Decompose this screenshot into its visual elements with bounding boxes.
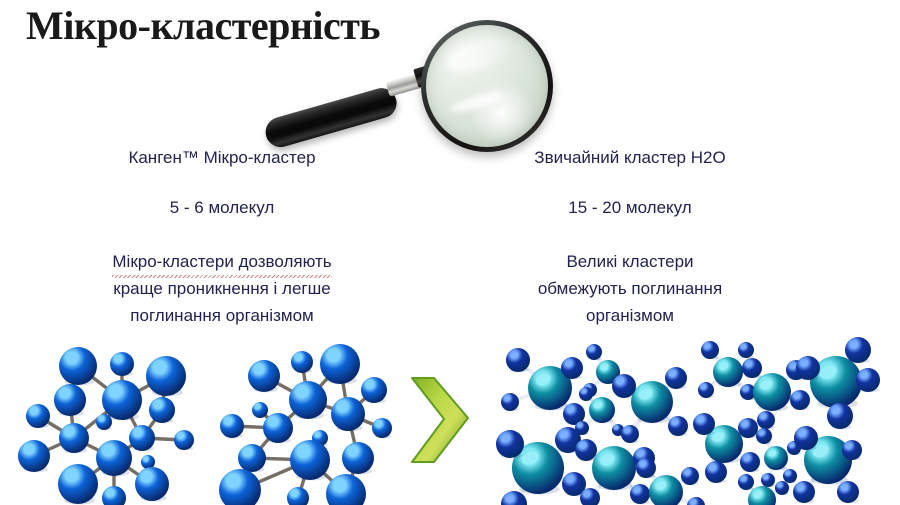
regular-cluster-diagram-2 [690, 336, 890, 505]
right-column-molecule-count: 15 - 20 молекул [480, 198, 780, 218]
infographic-root: Мікро-кластерність Канген™ Мікро-кластер… [0, 0, 900, 505]
left-column-heading: Канген™ Мікро-кластер [72, 148, 372, 168]
right-description-line-1: Великі кластери [470, 248, 790, 275]
right-description-line-3: організмом [470, 302, 790, 329]
chevron-right-icon [404, 372, 476, 468]
right-column-heading: Звичайний кластер H2O [480, 148, 780, 168]
micro-cluster-diagram-2 [216, 342, 412, 505]
magnifier-glare-upper [443, 33, 514, 79]
magnifier-handle [262, 85, 400, 151]
left-description-line-2: краще проникнення і легше [52, 275, 392, 302]
left-description-line-3: поглинання організмом [52, 302, 392, 329]
left-column-description: Мікро-кластери дозволяють краще проникне… [52, 248, 392, 329]
right-column-description: Великі кластери обмежують поглинання орг… [470, 248, 790, 329]
micro-cluster-diagram-1 [18, 338, 214, 505]
right-description-line-2: обмежують поглинання [470, 275, 790, 302]
magnifier-glare-lower [450, 89, 505, 116]
regular-cluster-diagram-1 [490, 340, 716, 505]
left-column-molecule-count: 5 - 6 молекул [72, 198, 372, 218]
left-description-line-1: Мікро-кластери дозволяють [112, 248, 331, 275]
magnifying-glass-icon [255, 8, 575, 158]
magnifier-lens [426, 25, 548, 147]
magnifier-rim [421, 20, 553, 152]
